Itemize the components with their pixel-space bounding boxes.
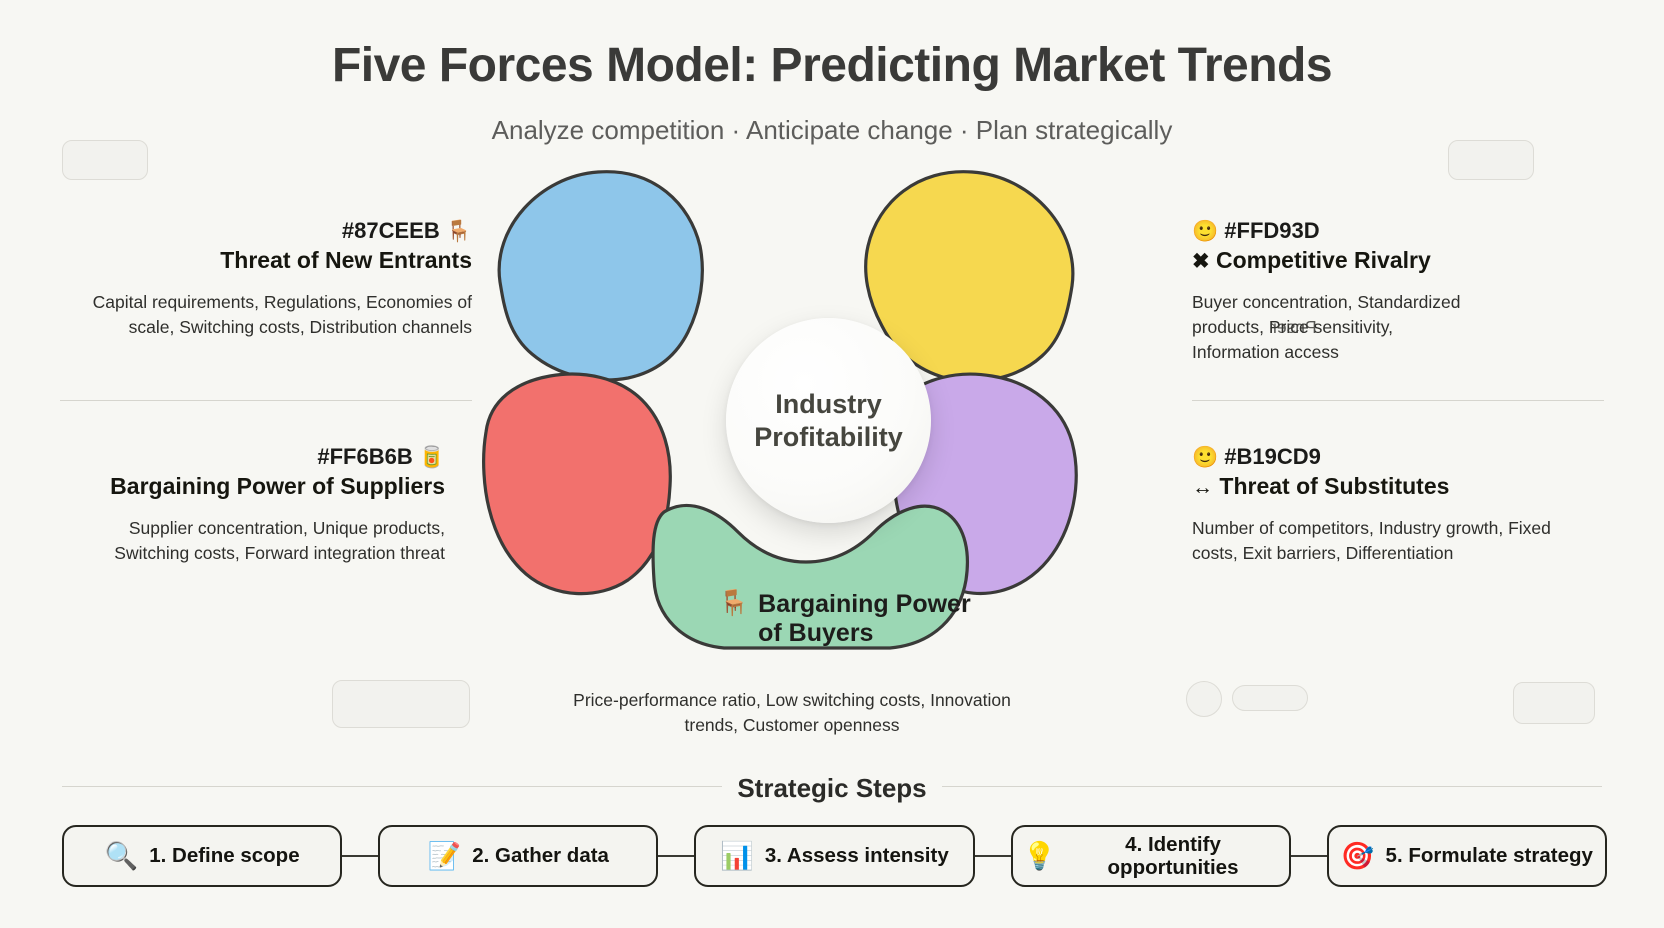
buyers-petal-line-2: of Buyers bbox=[758, 619, 873, 647]
cross-mark-icon: ✖ bbox=[1192, 250, 1210, 273]
buyers-petal-line-1: Bargaining Power bbox=[758, 590, 971, 618]
petal-bargaining-power-suppliers[interactable] bbox=[484, 374, 671, 594]
threat-new-entrants-hex-line: #87CEEB 🪑 bbox=[92, 217, 472, 246]
strategic-steps-row: 🔍 1. Define scope 📝 2. Gather data 📊 3. … bbox=[62, 822, 1607, 890]
substitutes-desc: Number of competitors, Industry growth, … bbox=[1192, 516, 1572, 566]
smiley-icon: 🙂 bbox=[1192, 446, 1218, 469]
sushi-icon: 🥫 bbox=[419, 446, 445, 469]
substitutes-hex-line: 🙂 #B19CD9 bbox=[1192, 443, 1572, 472]
decorative-ghost-rect-bottom-left bbox=[332, 680, 470, 728]
suppliers-desc: Supplier concentration, Unique products,… bbox=[65, 516, 445, 566]
substitutes-name: Threat of Substitutes bbox=[1219, 473, 1449, 499]
force-block-competitive-rivalry: 🙂 #FFD93D ✖ Competitive Rivalry Buyer co… bbox=[1192, 217, 1572, 365]
stool-icon: 🪑 bbox=[718, 590, 749, 618]
rivalry-desc-glitch: PnserPrice sensitivity, bbox=[1269, 315, 1393, 340]
page-subtitle: Analyze competition · Anticipate change … bbox=[0, 115, 1664, 146]
step-connector-3 bbox=[975, 855, 1011, 857]
rivalry-name-line: ✖ Competitive Rivalry bbox=[1192, 246, 1572, 276]
document-icon: 📝 bbox=[428, 843, 462, 870]
bar-chart-icon: 📊 bbox=[720, 843, 754, 870]
rivalry-desc-line-2: products, PnserPrice sensitivity, bbox=[1192, 317, 1393, 337]
force-block-bargaining-power-suppliers: #FF6B6B 🥫 Bargaining Power of Suppliers … bbox=[65, 443, 445, 566]
magnifier-icon: 🔍 bbox=[105, 843, 139, 870]
infographic-canvas: Five Forces Model: Predicting Market Tre… bbox=[0, 0, 1664, 928]
threat-new-entrants-hex: #87CEEB bbox=[342, 218, 440, 243]
buyers-petal-label: 🪑 Bargaining Power of Buyers bbox=[718, 590, 971, 649]
rivalry-desc-line-3: Information access bbox=[1192, 342, 1339, 362]
force-block-threat-new-entrants: #87CEEB 🪑 Threat of New Entrants Capital… bbox=[92, 217, 472, 340]
threat-new-entrants-desc: Capital requirements, Regulations, Econo… bbox=[92, 290, 472, 340]
step-2-label: 2. Gather data bbox=[472, 844, 609, 867]
step-connector-1 bbox=[342, 855, 378, 857]
step-1-define-scope[interactable]: 🔍 1. Define scope bbox=[62, 825, 342, 887]
right-divider-rule bbox=[1192, 400, 1604, 401]
decorative-ghost-rect-top-left bbox=[62, 140, 148, 180]
step-connector-4 bbox=[1291, 855, 1327, 857]
step-1-label: 1. Define scope bbox=[149, 844, 299, 867]
step-4-label: 4. Identify opportunities bbox=[1067, 833, 1279, 880]
center-industry-profitability: Industry Profitability bbox=[726, 318, 931, 523]
substitutes-name-line: ↔ Threat of Substitutes bbox=[1192, 472, 1572, 502]
threat-new-entrants-name: Threat of New Entrants bbox=[92, 246, 472, 276]
decorative-ghost-circle bbox=[1186, 681, 1222, 717]
stool-icon: 🪑 bbox=[446, 220, 472, 243]
decorative-ghost-rect-top-right bbox=[1448, 140, 1534, 180]
strategic-steps-title: Strategic Steps bbox=[0, 773, 1664, 804]
rivalry-desc-line-1: Buyer concentration, Standardized bbox=[1192, 292, 1461, 312]
rivalry-desc: Buyer concentration, Standardized produc… bbox=[1192, 290, 1572, 365]
rivalry-hex: #FFD93D bbox=[1224, 218, 1319, 243]
decorative-ghost-rect-bottom-right bbox=[1513, 682, 1595, 724]
decorative-ghost-pill bbox=[1232, 685, 1308, 711]
petal-threat-new-entrants[interactable] bbox=[499, 172, 702, 380]
buyers-petal-text: Bargaining Power of Buyers bbox=[758, 590, 971, 649]
lightbulb-icon: 💡 bbox=[1023, 843, 1057, 870]
rivalry-name: Competitive Rivalry bbox=[1216, 247, 1431, 273]
target-icon: 🎯 bbox=[1341, 843, 1375, 870]
page-title: Five Forces Model: Predicting Market Tre… bbox=[0, 38, 1664, 93]
left-right-arrow-icon: ↔ bbox=[1192, 476, 1213, 499]
suppliers-name: Bargaining Power of Suppliers bbox=[65, 472, 445, 502]
center-line-1: Industry bbox=[775, 388, 882, 421]
buyers-description: Price-performance ratio, Low switching c… bbox=[552, 688, 1032, 738]
force-block-threat-of-substitutes: 🙂 #B19CD9 ↔ Threat of Substitutes Number… bbox=[1192, 443, 1572, 566]
step-5-label: 5. Formulate strategy bbox=[1386, 844, 1593, 867]
left-divider-rule bbox=[60, 400, 472, 401]
rivalry-hex-line: 🙂 #FFD93D bbox=[1192, 217, 1572, 246]
step-2-gather-data[interactable]: 📝 2. Gather data bbox=[378, 825, 658, 887]
step-connector-2 bbox=[658, 855, 694, 857]
substitutes-hex: #B19CD9 bbox=[1224, 444, 1321, 469]
step-5-formulate-strategy[interactable]: 🎯 5. Formulate strategy bbox=[1327, 825, 1607, 887]
step-4-identify-opportunities[interactable]: 💡 4. Identify opportunities bbox=[1011, 825, 1291, 887]
step-3-assess-intensity[interactable]: 📊 3. Assess intensity bbox=[694, 825, 974, 887]
step-3-label: 3. Assess intensity bbox=[765, 844, 949, 867]
center-line-2: Profitability bbox=[754, 421, 903, 454]
suppliers-hex: #FF6B6B bbox=[317, 444, 412, 469]
suppliers-hex-line: #FF6B6B 🥫 bbox=[65, 443, 445, 472]
smiley-icon: 🙂 bbox=[1192, 220, 1218, 243]
